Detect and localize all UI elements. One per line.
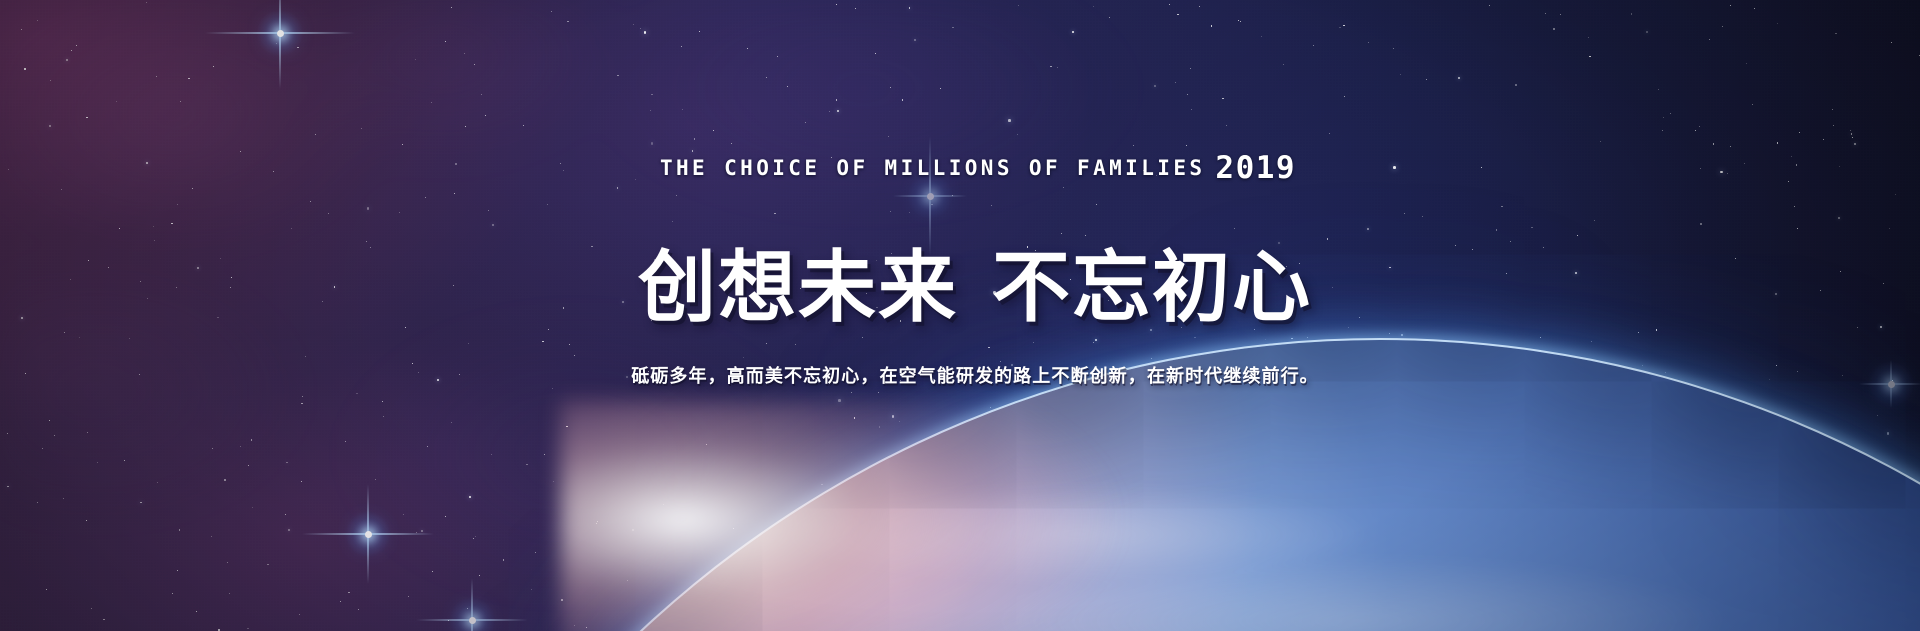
hero-banner: THE CHOICE OF MILLIONS OF FAMILIES2019 创…	[0, 0, 1920, 631]
eyebrow-year: 2019	[1215, 150, 1296, 186]
headline-phrase-left: 创想未来	[638, 243, 958, 333]
eyebrow-text: THE CHOICE OF MILLIONS OF FAMILIES	[660, 156, 1205, 180]
banner-eyebrow: THE CHOICE OF MILLIONS OF FAMILIES2019	[0, 150, 1920, 186]
banner-headline: 创想未来不忘初心	[0, 242, 1920, 334]
banner-subheadline: 砥砺多年，高而美不忘初心，在空气能研发的路上不断创新，在新时代继续前行。	[0, 362, 1920, 388]
headline-phrase-right: 不忘初心	[992, 243, 1312, 333]
